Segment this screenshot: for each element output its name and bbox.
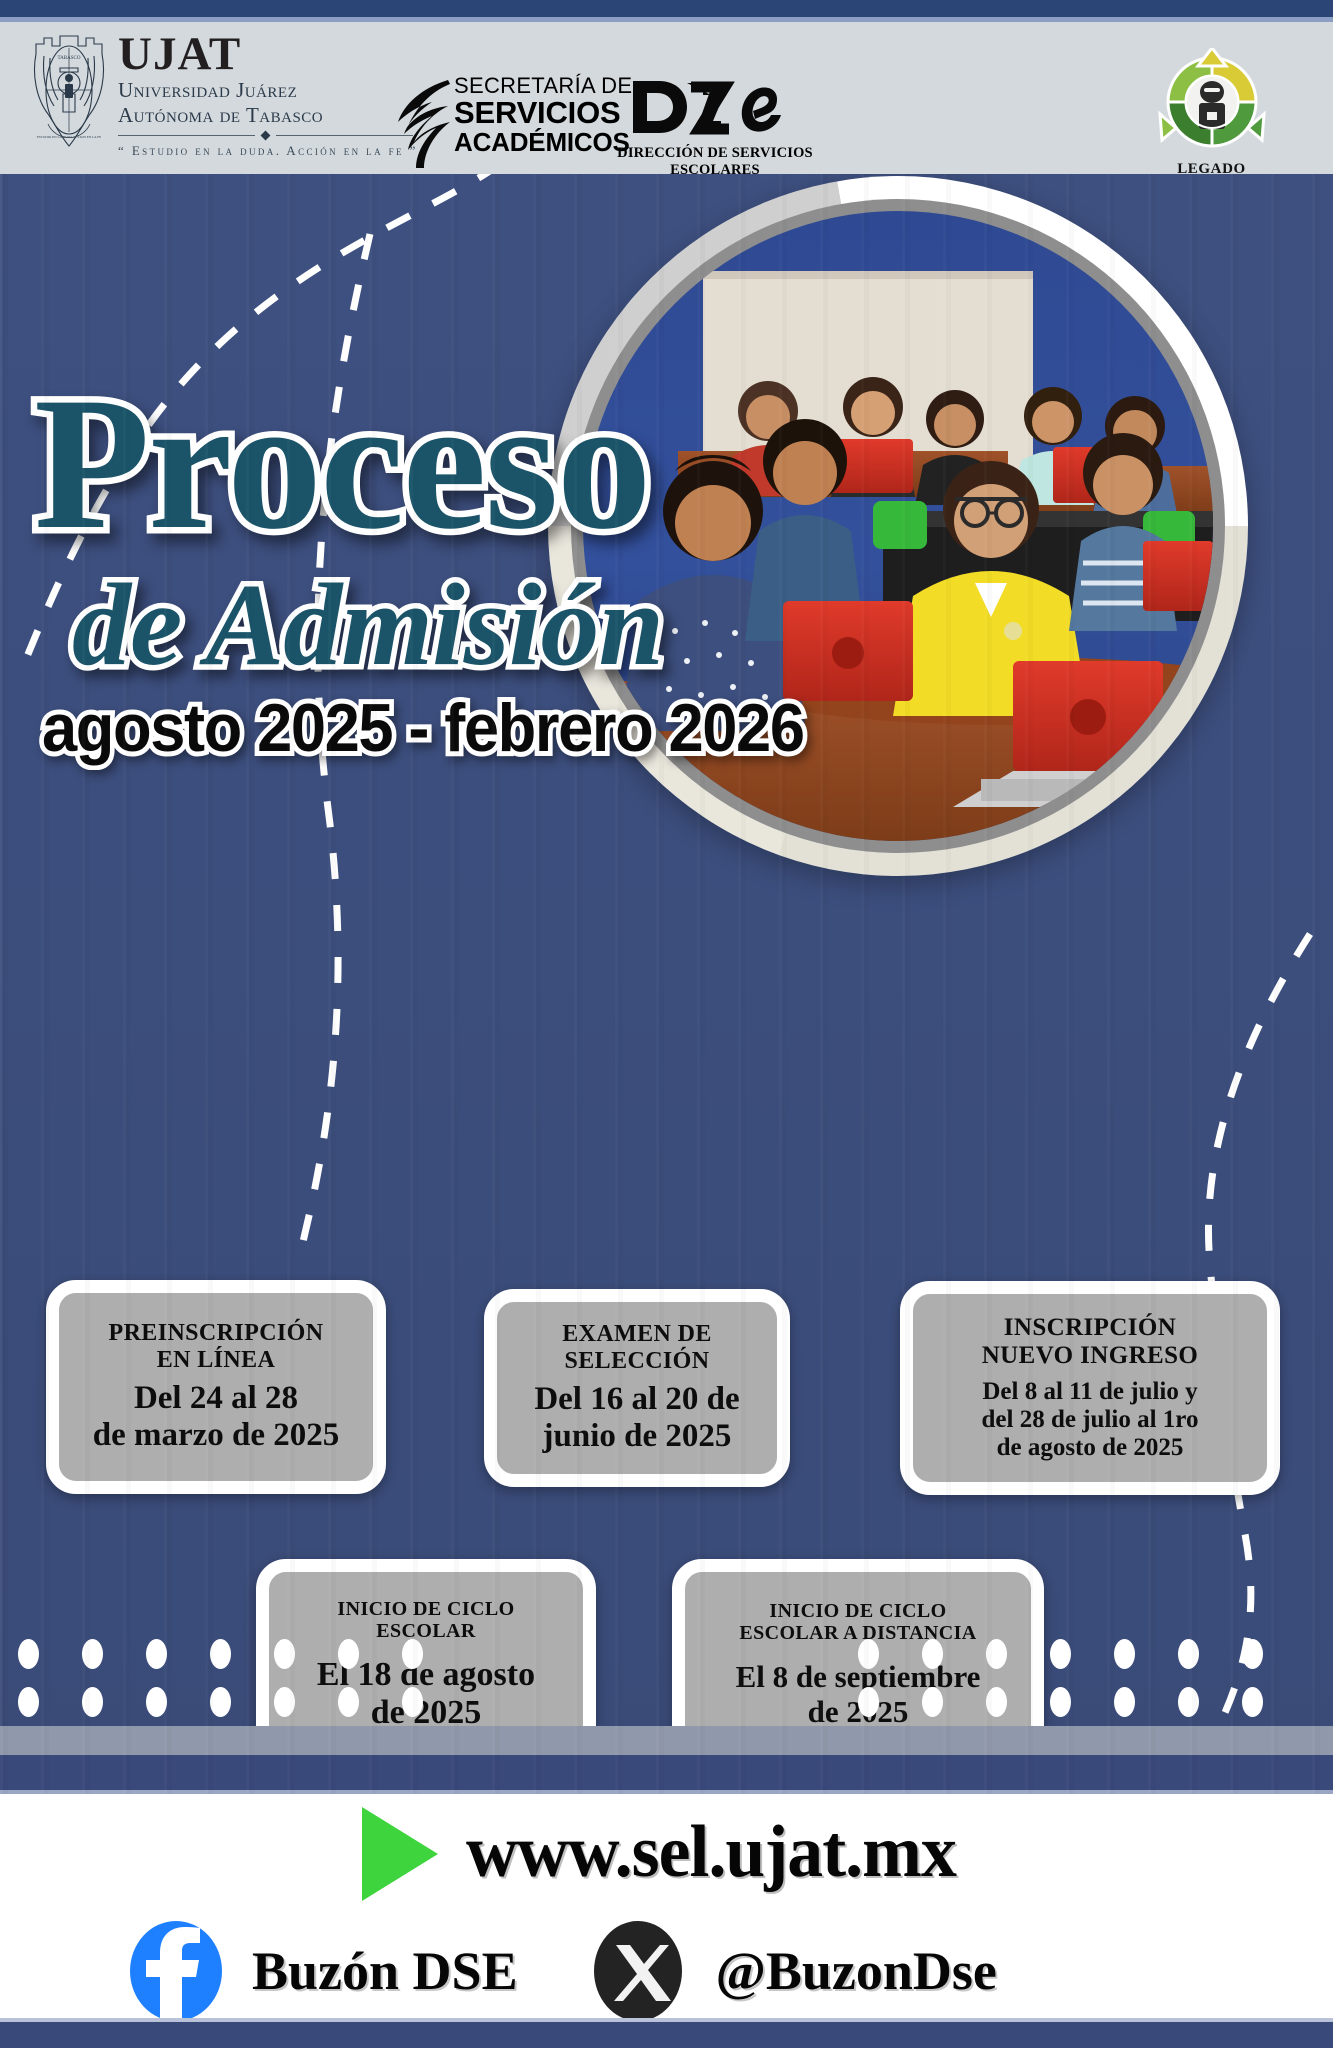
top-blue-bar [0,0,1333,17]
facebook-icon[interactable] [124,1919,228,2023]
page-subtitle: de Admisión [72,569,663,681]
card-title: INICIO DE CICLOESCOLAR A DISTANCIA [739,1600,976,1644]
card-title: INICIO DE CICLOESCOLAR [337,1598,514,1642]
card-body: Del 16 al 20 dejunio de 2025 [534,1381,739,1455]
play-triangle-icon [362,1807,438,1901]
ujat-name-line1: Universidad Juárez [118,78,418,102]
footer-blue-bar [0,2022,1333,2048]
card-body: Del 8 al 11 de julio ydel 28 de julio al… [982,1378,1199,1462]
legado-cycle-icon [1152,48,1272,160]
students-photo [548,176,1248,876]
x-label[interactable]: @BuzonDse [716,1940,997,2002]
social-row: Buzón DSE @BuzonDse [0,1919,1333,2023]
dot-pattern-left [18,1639,466,1717]
ujat-motto: “ Estudio en la duda. Acción en la fe ” [118,143,418,159]
ujat-divider [118,132,413,139]
ujat-logo: TABASCO ESTUDIO EN LA DUDA ACCION EN LA … [30,26,430,176]
card-title: PREINSCRIPCIÓNEN LÍNEA [109,1320,324,1373]
card-preinscripcion[interactable]: PREINSCRIPCIÓNEN LÍNEA Del 24 al 28de ma… [46,1280,386,1494]
page-date-range: agosto 2025 - febrero 2026 [42,694,804,762]
poster-body: Proceso de Admisión agosto 2025 - febrer… [0,174,1333,1794]
ujat-crest-icon: TABASCO ESTUDIO EN LA DUDA ACCION EN LA … [30,28,108,163]
card-examen-seleccion[interactable]: EXAMEN DESELECCIÓN Del 16 al 20 dejunio … [484,1289,790,1487]
svg-text:TABASCO: TABASCO [58,56,81,61]
x-twitter-icon[interactable] [586,1919,690,2023]
card-inscripcion-nuevo-ingreso[interactable]: INSCRIPCIÓNNUEVO INGRESO Del 8 al 11 de … [900,1281,1280,1495]
dse-logo: DIRECCIÓN DE SERVICIOS ESCOLARES [600,77,830,177]
gray-band [0,1726,1333,1755]
dse-line1: DIRECCIÓN DE SERVICIOS [600,145,830,162]
card-title: INSCRIPCIÓNNUEVO INGRESO [982,1314,1199,1369]
ujat-name-line2: Autónoma de Tabasco [118,103,418,127]
svg-text:ESTUDIO EN LA DUDA ACCION EN L: ESTUDIO EN LA DUDA ACCION EN LA FE [37,135,102,139]
swoosh-icon [392,78,452,170]
card-title: EXAMEN DESELECCIÓN [562,1321,712,1374]
website-row: www.sel.ujat.mx [0,1804,1333,1901]
dot-pattern-right [858,1639,1306,1717]
footer: www.sel.ujat.mx Buzón DSE @BuzonDse [0,1794,1333,2048]
header-logo-strip: TABASCO ESTUDIO EN LA DUDA ACCION EN LA … [0,22,1333,174]
facebook-label[interactable]: Buzón DSE [252,1940,518,2002]
card-body: Del 24 al 28de marzo de 2025 [93,1380,340,1454]
website-url[interactable]: www.sel.ujat.mx [466,1810,956,1895]
ujat-acronym: UJAT [118,32,418,77]
dse-monogram-icon [629,77,801,137]
page-title: Proceso [34,379,650,550]
blue-band [0,1755,1333,1790]
